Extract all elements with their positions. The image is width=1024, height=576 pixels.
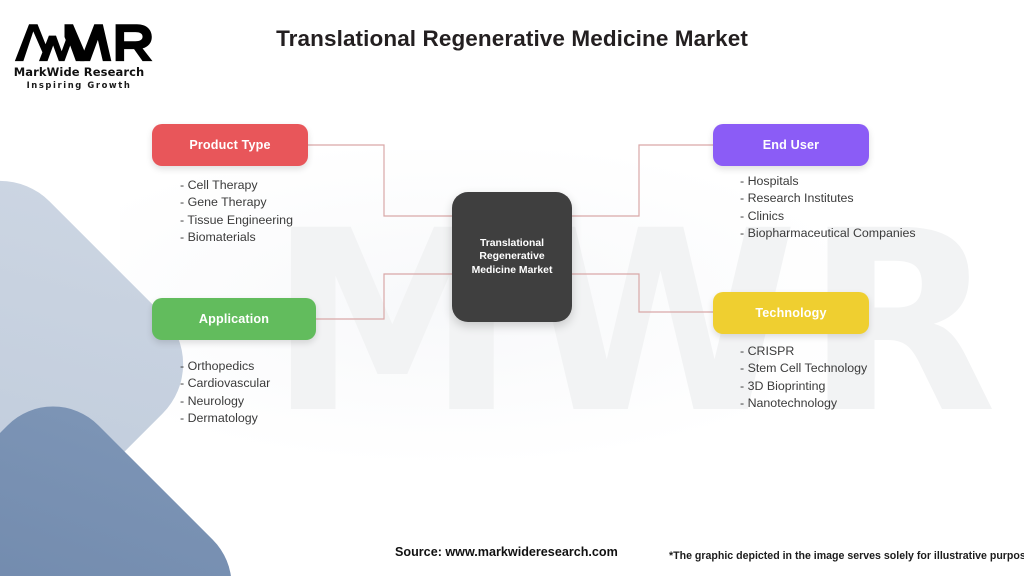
branch-node-application[interactable]: Application: [152, 298, 316, 340]
list-item: - 3D Bioprinting: [740, 378, 867, 395]
infographic-canvas: MWR MarkWide Research Inspiring Growth T…: [0, 0, 1024, 576]
center-node-label: Translational Regenerative Medicine Mark…: [472, 237, 553, 278]
branch-label-application: Application: [199, 312, 269, 326]
branch-label-technology: Technology: [755, 306, 826, 320]
list-item: - Hospitals: [740, 173, 916, 190]
center-node-line-3: Medicine Market: [472, 265, 553, 276]
list-item: - Neurology: [180, 393, 270, 410]
list-item: - Tissue Engineering: [180, 212, 293, 229]
list-item: - Research Institutes: [740, 190, 916, 207]
list-item: - Biomaterials: [180, 229, 293, 246]
source-label: Source: www.markwideresearch.com: [395, 545, 618, 559]
branch-node-product-type[interactable]: Product Type: [152, 124, 308, 166]
branch-items-application: - Orthopedics - Cardiovascular - Neurolo…: [180, 358, 270, 428]
list-item: - Clinics: [740, 208, 916, 225]
branch-items-end-user: - Hospitals - Research Institutes - Clin…: [740, 173, 916, 243]
center-node-line-2: Regenerative: [479, 251, 544, 262]
list-item: - Cardiovascular: [180, 375, 270, 392]
branch-items-technology: - CRISPR - Stem Cell Technology - 3D Bio…: [740, 343, 867, 413]
list-item: - Dermatology: [180, 410, 270, 427]
list-item: - Nanotechnology: [740, 395, 867, 412]
list-item: - CRISPR: [740, 343, 867, 360]
list-item: - Stem Cell Technology: [740, 360, 867, 377]
center-node-line-1: Translational: [480, 238, 544, 249]
disclaimer-note: *The graphic depicted in the image serve…: [669, 550, 1024, 562]
list-item: - Cell Therapy: [180, 177, 293, 194]
branch-node-end-user[interactable]: End User: [713, 124, 869, 166]
branch-items-product-type: - Cell Therapy - Gene Therapy - Tissue E…: [180, 177, 293, 247]
center-node[interactable]: Translational Regenerative Medicine Mark…: [452, 192, 572, 322]
branch-label-product-type: Product Type: [189, 138, 270, 152]
list-item: - Gene Therapy: [180, 194, 293, 211]
branch-node-technology[interactable]: Technology: [713, 292, 869, 334]
list-item: - Biopharmaceutical Companies: [740, 225, 916, 242]
branch-label-end-user: End User: [763, 138, 820, 152]
list-item: - Orthopedics: [180, 358, 270, 375]
